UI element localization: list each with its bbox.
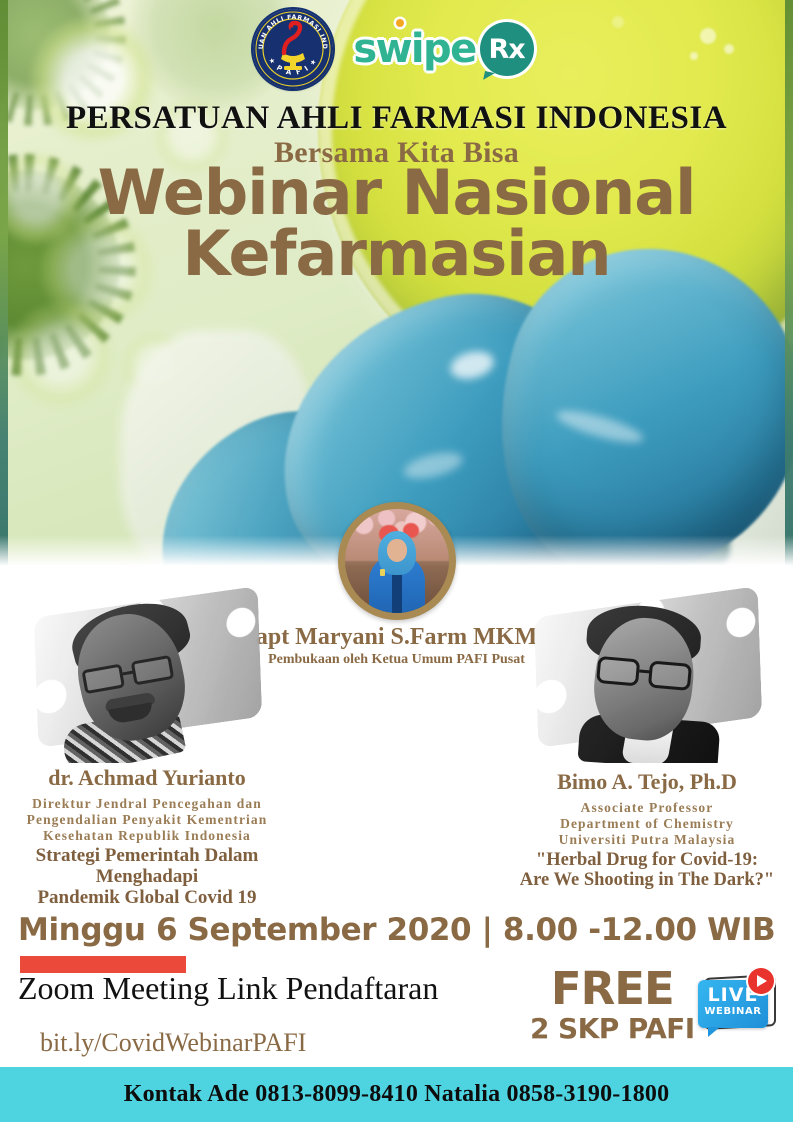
rx-label: Rx: [489, 36, 525, 63]
page-title: Webinar Nasional Kefarmasian: [0, 163, 793, 285]
speaker-name: dr. Achmad Yurianto: [12, 765, 282, 791]
pafi-logo: PERSATUAN AHLI FARMASI INDONESIA ★ P A F…: [253, 9, 333, 89]
live-webinar-badge: LIVE WEBINAR: [698, 972, 780, 1038]
swipe-wordmark: swipe: [353, 26, 475, 72]
speaker-photo-achmad-yurianto: [27, 588, 267, 763]
event-date-time: Minggu 6 September 2020 | 8.00 -12.00 WI…: [18, 912, 775, 948]
glove-highlight: [554, 405, 646, 449]
price-block: FREE 2 SKP PAFI: [530, 966, 695, 1045]
bokeh-circle: [6, 300, 116, 410]
center-speaker-photo: [338, 502, 456, 620]
swipe-rx-logo: swipe Rx: [347, 20, 539, 78]
face: [387, 539, 407, 562]
registration-link[interactable]: bit.ly/CovidWebinarPAFI: [40, 1028, 306, 1058]
speaker-photo-bimo-tejo: [527, 588, 767, 763]
glove-highlight: [401, 448, 465, 484]
contact-text: Kontak Ade 0813-8099-8410 Natalia 0858-3…: [124, 1081, 670, 1108]
speaker-name: Bimo A. Tejo, Ph.D: [512, 769, 782, 795]
play-icon: [748, 968, 774, 994]
speaker-topic: "Herbal Drug for Covid-19: Are We Shooti…: [512, 850, 782, 891]
portrait-grayscale: [27, 588, 267, 763]
portrait-grayscale: [527, 588, 767, 763]
rx-bubble-icon: Rx: [480, 22, 534, 76]
avatar-ring: [338, 502, 456, 620]
badge-webinar-label: WEBINAR: [698, 1007, 768, 1017]
lapel-badge: [380, 569, 385, 576]
avatar: [345, 509, 449, 613]
speaker-card-right: Bimo A. Tejo, Ph.D Associate Professor D…: [512, 588, 782, 890]
speaker-topic: Strategi Pemerintah Dalam Menghadapi Pan…: [12, 846, 282, 909]
glove-highlight: [448, 347, 497, 383]
organization-name: PERSATUAN AHLI FARMASI INDONESIA: [0, 100, 793, 137]
contact-footer: Kontak Ade 0813-8099-8410 Natalia 0858-3…: [0, 1067, 793, 1122]
platform-line: Zoom Meeting Link Pendaftaran: [18, 970, 438, 1007]
speaker-card-left: dr. Achmad Yurianto Direktur Jendral Pen…: [12, 588, 282, 908]
price-label: FREE: [530, 966, 695, 1011]
speaker-affiliation: Associate Professor Department of Chemis…: [512, 800, 782, 848]
logo-row: PERSATUAN AHLI FARMASI INDONESIA ★ P A F…: [0, 6, 793, 92]
title-line-2: Kefarmasian: [0, 224, 793, 285]
speaker-affiliation: Direktur Jendral Pencegahan dan Pengenda…: [12, 796, 282, 844]
credits-label: 2 SKP PAFI: [530, 1013, 695, 1045]
webinar-poster: PERSATUAN AHLI FARMASI INDONESIA ★ P A F…: [0, 0, 793, 1122]
